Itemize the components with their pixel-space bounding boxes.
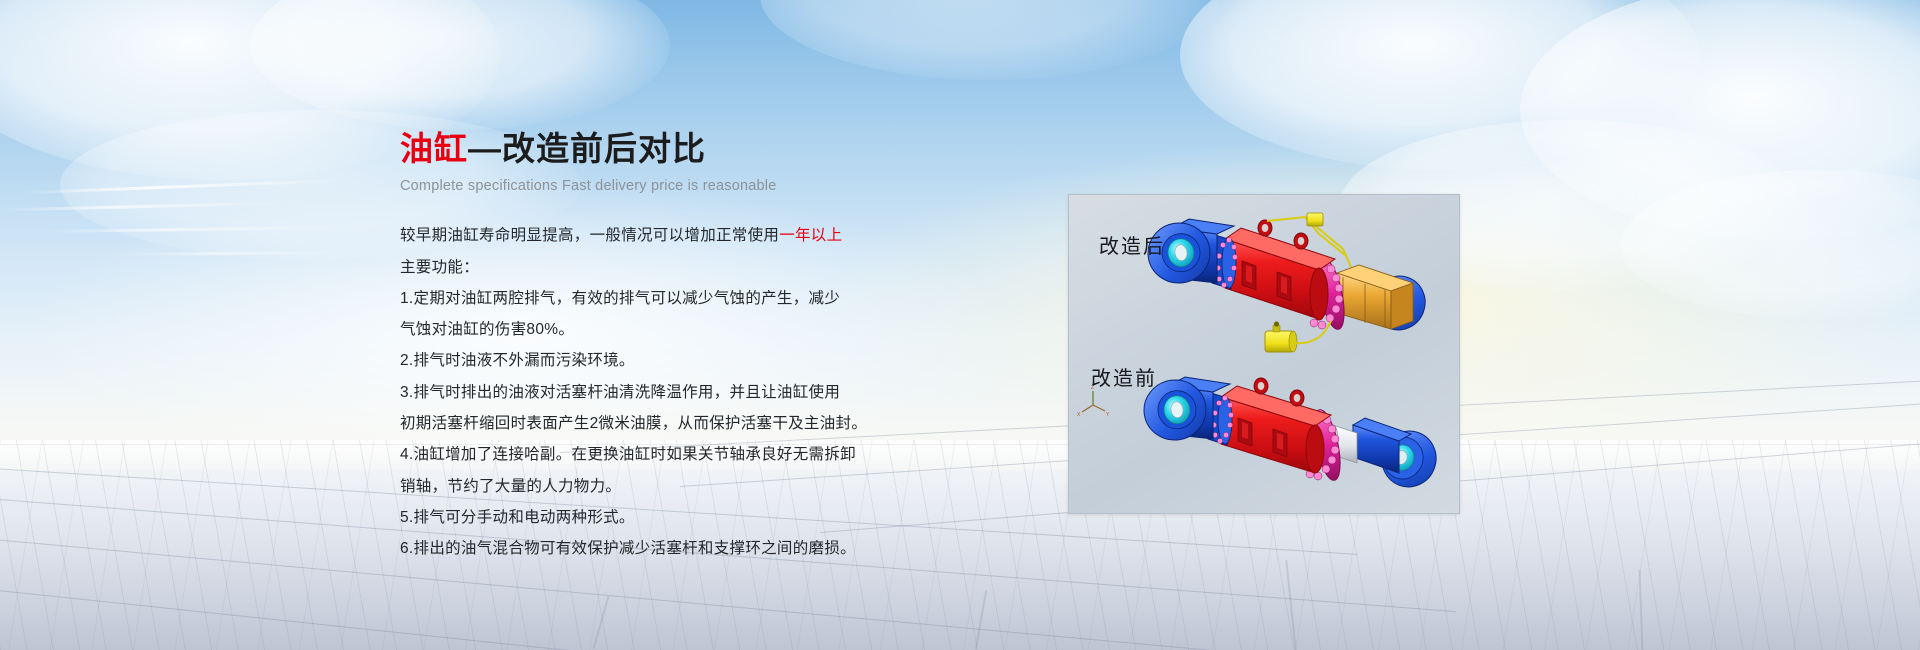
- line-text: 1.定期对油缸两腔排气，有效的排气可以减少气蚀的产生，减少: [400, 290, 840, 307]
- feature-list: 较早期油缸寿命明显提高，一般情况可以增加正常使用一年以上 主要功能： 1.定期对…: [400, 220, 1040, 564]
- cloud-shape: [250, 0, 670, 130]
- gold-rod-connector-after: [1337, 265, 1413, 329]
- cylinder-barrel-before: [1221, 378, 1331, 473]
- line-text: 主要功能：: [400, 259, 479, 276]
- svg-text:Y: Y: [1106, 412, 1110, 418]
- cylinder-barrel-after: [1225, 220, 1335, 320]
- cloud-shape: [1620, 170, 1920, 320]
- list-item: 初期活塞杆缩回时表面产生2微米油膜，从而保护活塞干及主油封。: [400, 408, 1040, 439]
- headline-highlight: 油缸: [400, 130, 468, 167]
- list-item: 较早期油缸寿命明显提高，一般情况可以增加正常使用一年以上: [400, 220, 1040, 251]
- cloud-shape: [760, 0, 1220, 80]
- list-item: 主要功能：: [400, 252, 1040, 283]
- list-item: 4.油缸增加了连接哈副。在更换油缸时如果关节轴承良好无需拆卸: [400, 439, 1040, 470]
- line-text: 5.排气可分手动和电动两种形式。: [400, 509, 635, 526]
- product-image-panel: Z X Y 改造后 改造前: [1068, 194, 1460, 514]
- cylinder-after: [1144, 213, 1433, 352]
- subheadline: Complete specifications Fast delivery pr…: [400, 178, 1040, 194]
- list-item: 气蚀对油缸的伤害80%。: [400, 314, 1040, 345]
- line-text: 2.排气时油液不外漏而污染环境。: [400, 352, 635, 369]
- banner-copy: 油缸—改造前后对比 Complete specifications Fast d…: [400, 128, 1040, 565]
- line-text: 3.排气时排出的油液对活塞杆油清洗降温作用，并且让油缸使用: [400, 384, 840, 401]
- list-item: 5.排气可分手动和电动两种形式。: [400, 502, 1040, 533]
- manual-vent-valve: [1265, 321, 1297, 352]
- cylinder-before: [1140, 376, 1443, 494]
- pavement-seam: [592, 596, 609, 649]
- line-text: 气蚀对油缸的伤害80%。: [400, 321, 574, 338]
- list-item: 1.定期对油缸两腔排气，有效的排气可以减少气蚀的产生，减少: [400, 283, 1040, 314]
- list-item: 3.排气时排出的油液对活塞杆油清洗降温作用，并且让油缸使用: [400, 377, 1040, 408]
- cloud-streak: [0, 201, 290, 211]
- headline-rest: —改造前后对比: [468, 130, 706, 167]
- pavement-seam: [1285, 560, 1296, 650]
- cloud-streak: [20, 179, 350, 195]
- cad-illustration: Z X Y 改造后 改造前: [1069, 195, 1459, 513]
- list-item: 2.排气时油液不外漏而污染环境。: [400, 345, 1040, 376]
- cloud-shape: [1520, 0, 1920, 240]
- pavement-line: [0, 586, 1700, 650]
- page-title: 油缸—改造前后对比: [400, 128, 1040, 169]
- list-item: 销轴，节约了大量的人力物力。: [400, 471, 1040, 502]
- line-text: 6.排出的油气混合物可有效保护减少活塞杆和支撑环之间的磨损。: [400, 540, 856, 557]
- cloud-shape: [1180, 0, 1700, 170]
- pavement-seam: [975, 590, 987, 649]
- pavement-seam: [1639, 570, 1644, 650]
- list-item: 6.排出的油气混合物可有效保护减少活塞杆和支撑环之间的磨损。: [400, 533, 1040, 564]
- product-banner: 油缸—改造前后对比 Complete specifications Fast d…: [0, 0, 1920, 650]
- svg-text:X: X: [1077, 412, 1081, 418]
- cloud-streak: [40, 226, 340, 233]
- cloud-streak: [110, 251, 360, 256]
- line-text: 销轴，节约了大量的人力物力。: [400, 478, 621, 495]
- line-text: 4.油缸增加了连接哈副。在更换油缸时如果关节轴承良好无需拆卸: [400, 446, 856, 463]
- label-before-modification: 改造前: [1091, 362, 1157, 391]
- vent-valve-block-upper: [1307, 213, 1323, 226]
- label-after-modification: 改造后: [1099, 230, 1165, 259]
- line-text: 初期活塞杆缩回时表面产生2微米油膜，从而保护活塞干及主油封。: [400, 415, 867, 432]
- line-emphasis: 一年以上: [779, 227, 842, 244]
- line-text: 较早期油缸寿命明显提高，一般情况可以增加正常使用: [400, 227, 779, 244]
